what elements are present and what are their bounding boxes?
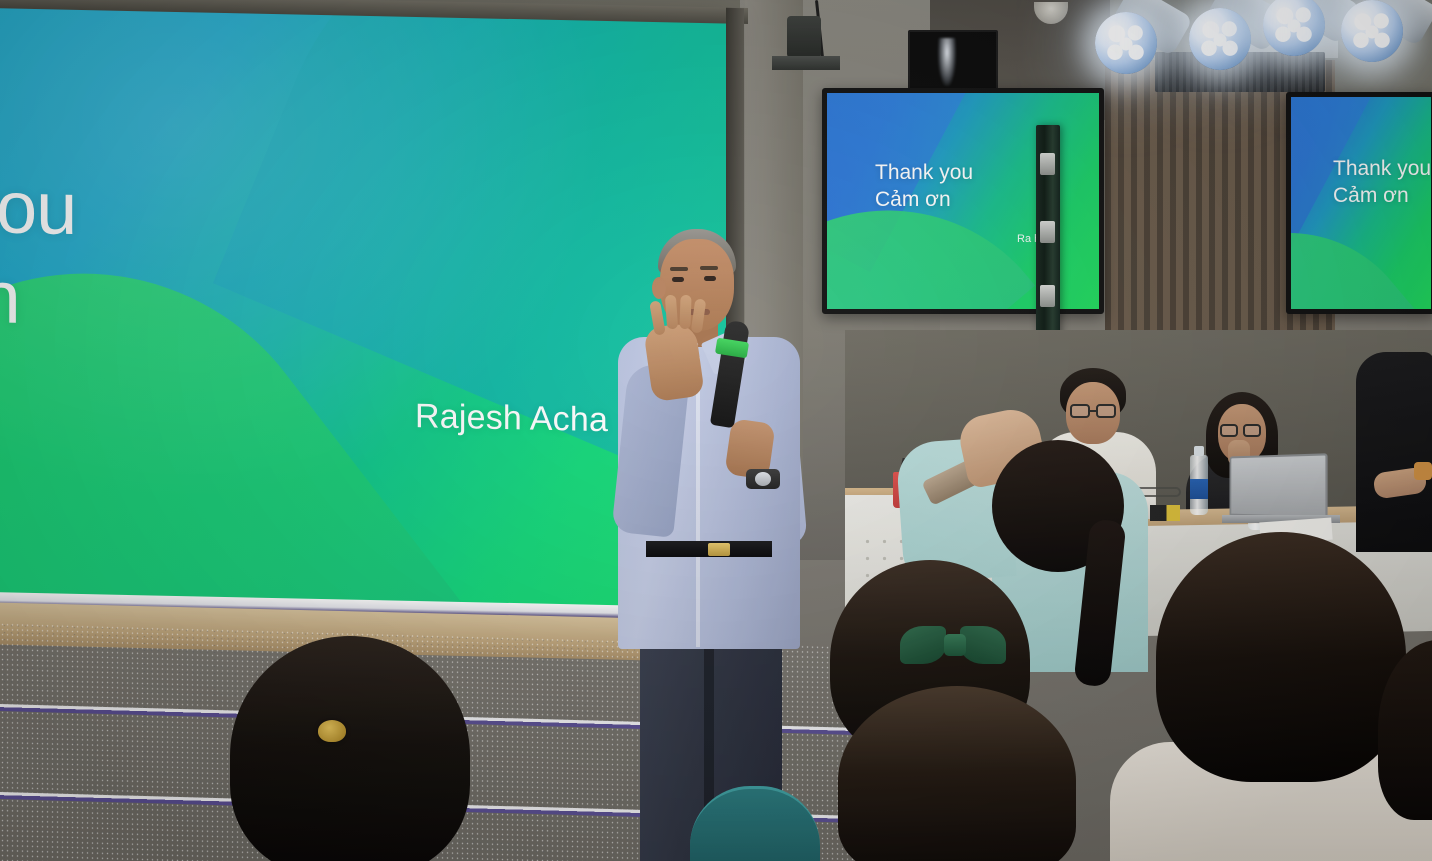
laptop [1230, 453, 1328, 518]
secondary-monitor-center: Thank you Cảm ơn Ra harta [822, 88, 1104, 314]
water-bottle [1190, 455, 1208, 515]
belt-buckle [708, 543, 730, 556]
wall-speaker [787, 16, 821, 58]
slide-title: you n [0, 162, 76, 345]
monitor-slide-title: Thank you Cảm ơn [875, 159, 973, 214]
slide-presenter-name: Rajesh Acha [415, 397, 608, 440]
secondary-monitor-right: Thank you Cảm ơn [1286, 92, 1432, 314]
speaker-shelf [772, 56, 840, 70]
green-bow-accessory [900, 624, 1008, 666]
stage-light-rig [1085, 0, 1432, 90]
black-monitor [908, 30, 998, 96]
eyeglasses-icon [1096, 404, 1116, 418]
eyeglasses-icon [1220, 424, 1238, 437]
hair-clip-icon [318, 720, 346, 742]
presenter [600, 225, 860, 861]
monitor-slide-title: Thank you Cảm ơn [1333, 155, 1431, 210]
small-box [1150, 505, 1180, 521]
conference-photo: you n Rajesh Acha Thank you Cảm ơn Ra ha… [0, 0, 1432, 861]
eyeglasses-icon [1070, 404, 1090, 418]
eyeglasses-icon [1243, 424, 1261, 437]
wristwatch-icon [746, 469, 780, 489]
